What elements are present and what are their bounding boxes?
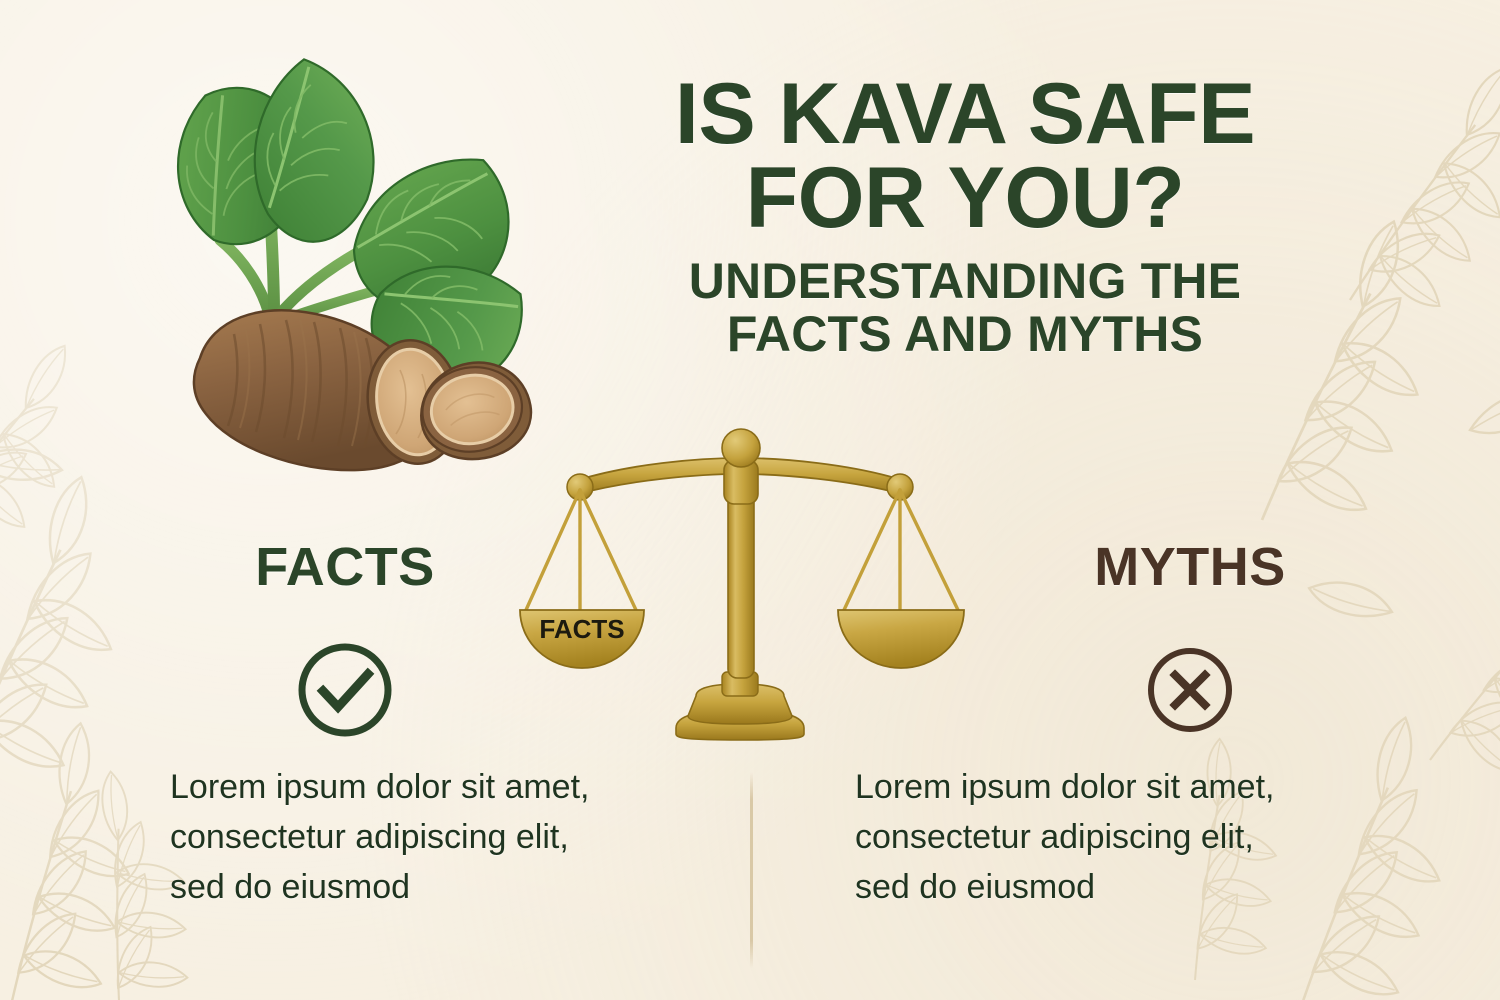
page-subtitle-line-2: FACTS AND MYTHS	[727, 306, 1203, 362]
infographic-canvas: IS KAVA SAFEFOR YOU? UNDERSTANDING THEFA…	[0, 0, 1500, 1000]
myths-heading: MYTHS	[855, 540, 1375, 594]
page-subtitle-line-1: UNDERSTANDING THE	[689, 253, 1241, 309]
facts-icon-wrapper	[170, 640, 690, 740]
myths-body-text: Lorem ipsum dolor sit amet, consectetur …	[855, 762, 1345, 912]
x-circle-icon	[1145, 645, 1235, 735]
title-block: IS KAVA SAFEFOR YOU? UNDERSTANDING THEFA…	[600, 72, 1330, 361]
facts-column: FACTS Lorem ipsum dolor sit amet, consec…	[170, 540, 690, 912]
page-title-line-2: FOR YOU?	[746, 150, 1185, 246]
facts-body-text: Lorem ipsum dolor sit amet, consectetur …	[170, 762, 660, 912]
facts-heading: FACTS	[170, 540, 690, 594]
myths-column: MYTHS Lorem ipsum dolor sit amet, consec…	[855, 540, 1375, 912]
kava-plant-illustration	[62, 28, 562, 478]
column-divider	[750, 772, 753, 968]
page-title: IS KAVA SAFEFOR YOU?	[600, 72, 1330, 241]
page-subtitle: UNDERSTANDING THEFACTS AND MYTHS	[600, 255, 1330, 361]
check-circle-icon	[296, 641, 394, 739]
myths-icon-wrapper	[855, 640, 1375, 740]
page-title-line-1: IS KAVA SAFE	[675, 66, 1255, 162]
